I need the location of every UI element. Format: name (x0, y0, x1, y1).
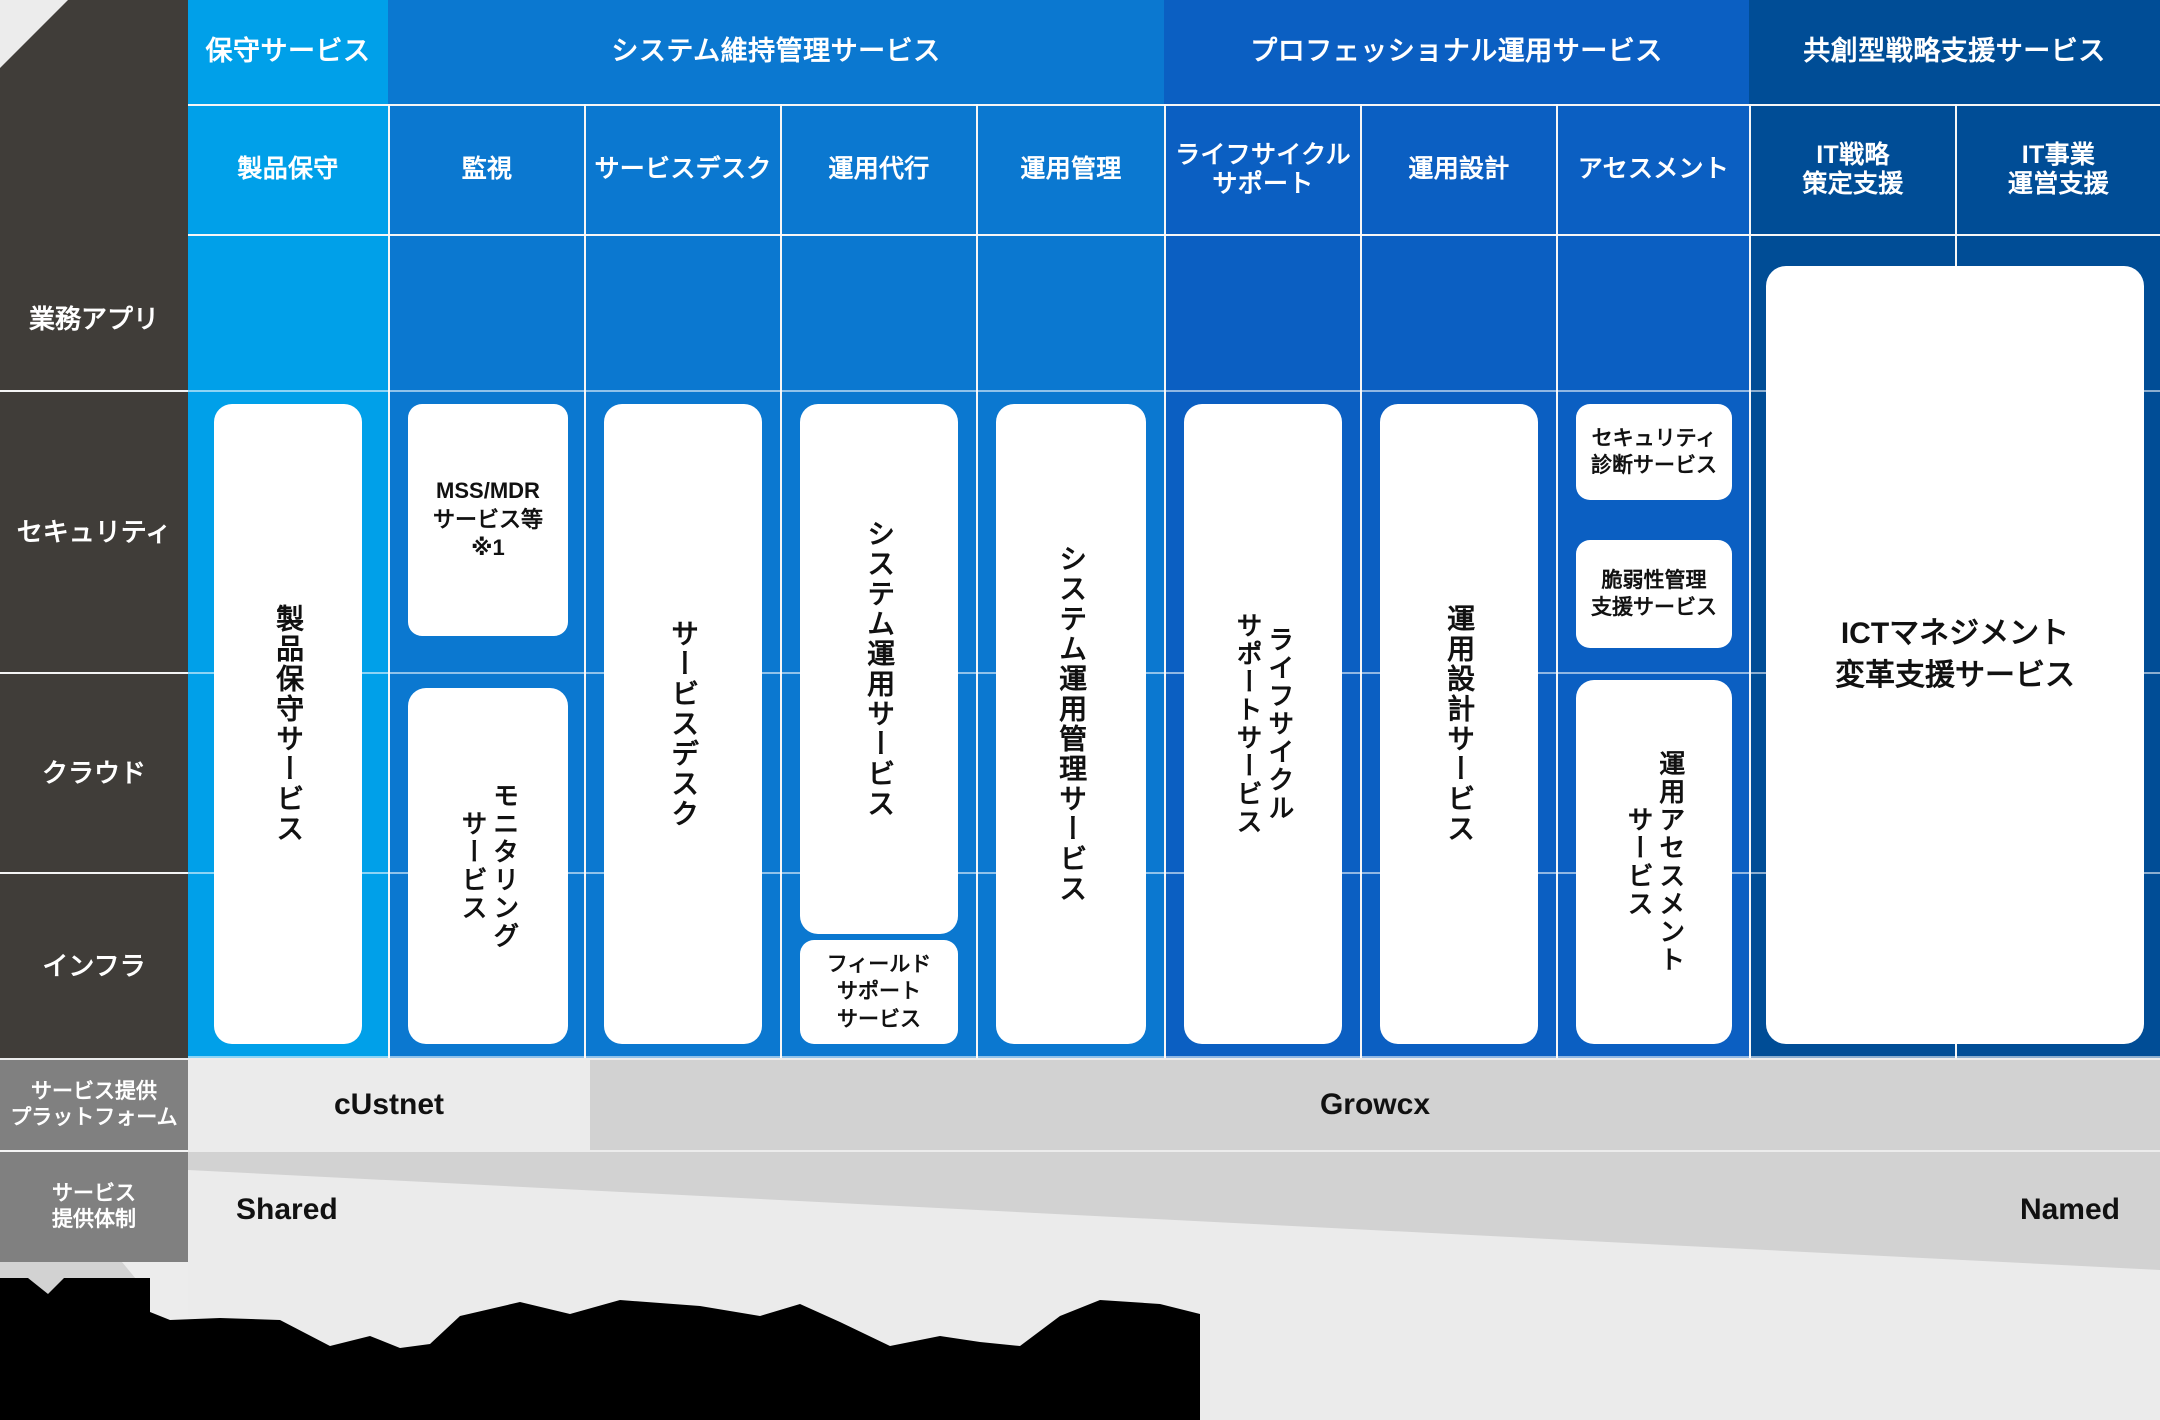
card-monitoring[interactable]: モニタリング サービス (408, 688, 568, 1044)
header-group-label: 共創型戦略支援サービス (1803, 36, 2106, 68)
card-ict-management[interactable]: ICTマネジメント 変革支援サービス (1766, 266, 2144, 1044)
row-label-text: サービス提供 プラットフォーム (10, 1079, 177, 1132)
header-col-label: 監視 (462, 155, 513, 185)
platform-right-text: Growcx (1320, 1088, 1430, 1122)
col-separator (976, 104, 978, 1058)
card-label: ICTマネジメント 変革支援サービス (1835, 613, 2075, 697)
card-operation-assessment[interactable]: 運用アセスメント サービス (1576, 680, 1732, 1044)
header-col-label: アセスメント (1578, 155, 1729, 185)
header-group-label: プロフェッショナル運用サービス (1250, 36, 1663, 68)
card-mss-mdr[interactable]: MSS/MDR サービス等 ※1 (408, 404, 568, 636)
card-service-desk[interactable]: サービスデスク (604, 404, 762, 1044)
header-group-cocreation: 共創型戦略支援サービス (1749, 0, 2160, 104)
row-label-text: クラウド (42, 757, 146, 790)
delivery-right-text: Named (2020, 1193, 2120, 1227)
col-separator (1164, 104, 1166, 1058)
col-separator (1749, 104, 1751, 1058)
row-label-text: 業務アプリ (29, 303, 159, 336)
header-group-maintenance: 保守サービス (188, 0, 388, 104)
row-label-delivery: サービス 提供体制 (0, 1152, 188, 1262)
platform-left-text: cUstnet (334, 1088, 444, 1122)
header-col-it-business: IT事業 運営支援 (1957, 106, 2160, 234)
col-separator (780, 104, 782, 1058)
platform-label-growcx: Growcx (590, 1060, 2160, 1150)
delivery-label-named: Named (1860, 1180, 2120, 1240)
row-label-business-app: 業務アプリ (0, 248, 188, 390)
card-product-maintenance[interactable]: 製品保守サービス (214, 404, 362, 1044)
row-separator (188, 234, 2160, 236)
rail-corner-notch (0, 0, 188, 248)
header-group-professional: プロフェッショナル運用サービス (1164, 0, 1749, 104)
service-matrix-diagram: 保守サービス システム維持管理サービス プロフェッショナル運用サービス 共創型戦… (0, 0, 2160, 1420)
delivery-left-text: Shared (236, 1193, 338, 1227)
header-col-lifecycle-support: ライフサイクル サポート (1166, 106, 1360, 234)
card-label: システム運用サービス (862, 519, 896, 819)
card-label: 運用設計サービス (1442, 604, 1476, 844)
col-separator (1360, 104, 1362, 1058)
card-label: MSS/MDR サービス等 ※1 (433, 477, 543, 563)
header-group-label: システム維持管理サービス (611, 36, 940, 68)
header-col-label: サービスデスク (594, 155, 771, 185)
header-col-label: IT事業 運営支援 (2008, 141, 2109, 200)
row-label-text: サービス 提供体制 (52, 1181, 136, 1234)
card-system-operation[interactable]: システム運用サービス (800, 404, 958, 934)
header-col-label: 製品保守 (237, 155, 338, 185)
row-label-infra: インフラ (0, 874, 188, 1058)
col-separator (1556, 104, 1558, 1058)
card-vulnerability-management[interactable]: 脆弱性管理 支援サービス (1576, 540, 1732, 648)
header-col-operation-design: 運用設計 (1362, 106, 1556, 234)
row-separator (188, 1056, 2160, 1058)
row-label-security: セキュリティ (0, 392, 188, 672)
col-separator (388, 104, 390, 1058)
row-separator (188, 104, 2160, 106)
header-group-label: 保守サービス (206, 36, 371, 68)
row-label-text: インフラ (42, 950, 145, 983)
card-label: 製品保守サービス (271, 604, 305, 844)
header-col-label: ライフサイクル サポート (1175, 141, 1351, 200)
header-group-system-maintenance: システム維持管理サービス (388, 0, 1164, 104)
delivery-label-shared: Shared (236, 1180, 536, 1240)
header-col-product-maintenance: 製品保守 (188, 106, 388, 234)
header-col-service-desk: サービスデスク (586, 106, 780, 234)
header-col-assessment: アセスメント (1558, 106, 1749, 234)
header-col-label: 運用設計 (1408, 155, 1509, 185)
card-label: フィールド サポート サービス (827, 951, 932, 1033)
header-col-monitoring: 監視 (390, 106, 584, 234)
card-label: 運用アセスメント サービス (1622, 750, 1685, 974)
card-label: 脆弱性管理 支援サービス (1591, 567, 1717, 622)
row-label-cloud: クラウド (0, 674, 188, 872)
col-separator (584, 104, 586, 1058)
header-col-it-strategy: IT戦略 策定支援 (1751, 106, 1955, 234)
card-label: ライフサイクル サポートサービス (1231, 612, 1294, 836)
header-col-label: IT戦略 策定支援 (1802, 141, 1903, 200)
platform-label-custnet: cUstnet (188, 1060, 590, 1150)
card-field-support[interactable]: フィールド サポート サービス (800, 940, 958, 1044)
card-system-operation-management[interactable]: システム運用管理サービス (996, 404, 1146, 1044)
card-label: セキュリティ 診断サービス (1591, 425, 1717, 480)
card-label: サービスデスク (666, 619, 700, 829)
header-col-operation-agency: 運用代行 (782, 106, 976, 234)
header-col-label: 運用代行 (828, 155, 929, 185)
header-col-operation-management: 運用管理 (978, 106, 1164, 234)
header-col-label: 運用管理 (1020, 155, 1121, 185)
row-label-text: セキュリティ (17, 516, 171, 549)
card-label: システム運用管理サービス (1054, 544, 1088, 904)
card-operation-design[interactable]: 運用設計サービス (1380, 404, 1538, 1044)
row-label-platform: サービス提供 プラットフォーム (0, 1060, 188, 1150)
card-lifecycle-support[interactable]: ライフサイクル サポートサービス (1184, 404, 1342, 1044)
card-security-diagnosis[interactable]: セキュリティ 診断サービス (1576, 404, 1732, 500)
card-label: モニタリング サービス (456, 782, 519, 950)
